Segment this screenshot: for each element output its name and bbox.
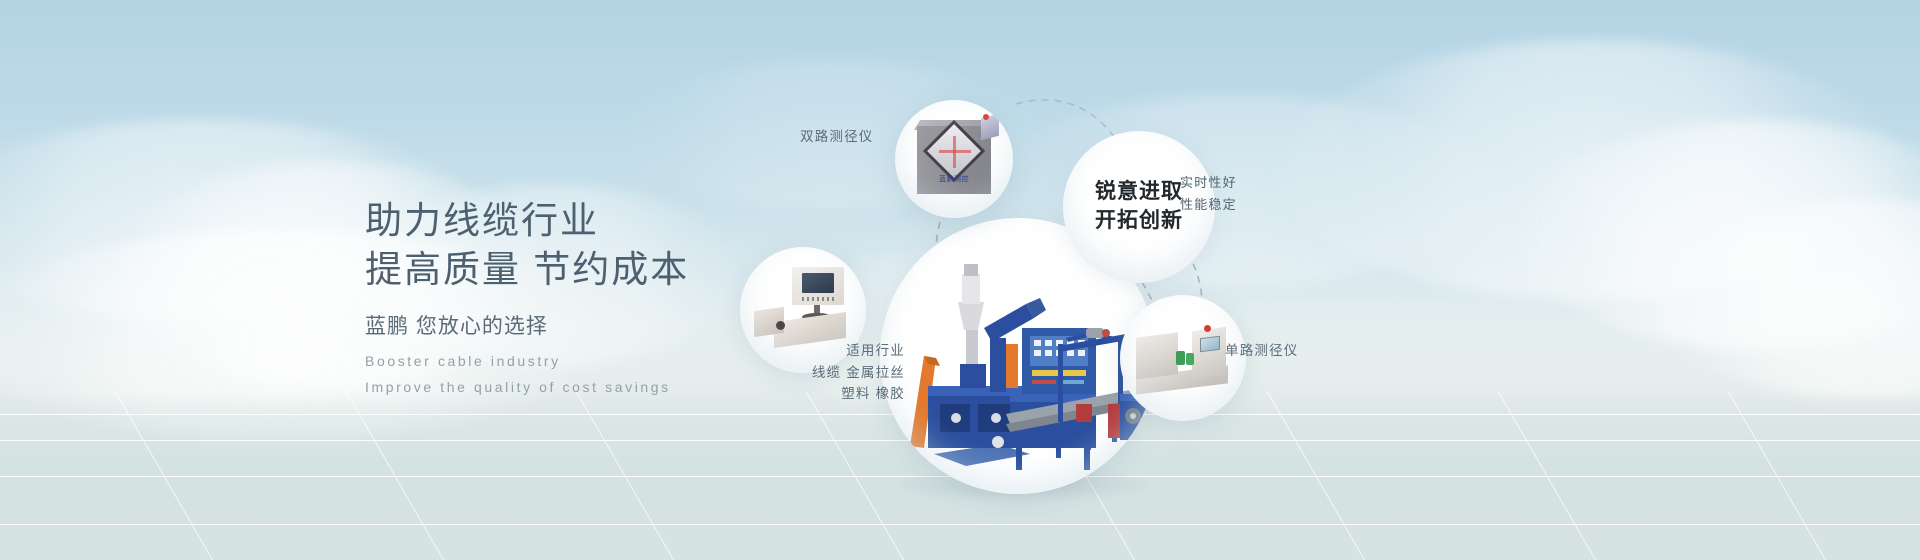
headline-line-1: 助力线缆行业	[365, 196, 785, 245]
english-tagline-2: Improve the quality of cost savings	[365, 379, 785, 395]
label-dual-gauge: 双路测径仪	[800, 126, 874, 148]
industries-title: 适用行业	[725, 340, 905, 362]
industries-line-2: 塑料 橡胶	[725, 383, 905, 405]
headline-line-2: 提高质量 节约成本	[365, 245, 785, 294]
banner-copy-block: 助力线缆行业 提高质量 节约成本 蓝鹏 您放心的选择 Booster cable…	[365, 196, 785, 395]
product-composition: 蓝鹏测控	[880, 0, 1920, 560]
label-single-gauge: 单路测径仪	[1225, 340, 1299, 362]
console-screen	[802, 273, 834, 293]
performance-line-2: 性能稳定	[1180, 194, 1237, 216]
dual-gauge-illustration: 蓝鹏测控	[895, 100, 1013, 218]
english-tagline-1: Booster cable industry	[365, 353, 785, 369]
optical-emitter	[1176, 351, 1185, 365]
product-brand-mark: 蓝鹏测控	[895, 174, 1013, 184]
console-lens	[776, 321, 785, 330]
gauge-display-screen	[1200, 336, 1220, 352]
sub-headline: 蓝鹏 您放心的选择	[365, 310, 785, 340]
performance-line-1: 实时性好	[1180, 172, 1237, 194]
optical-receiver	[1186, 353, 1194, 365]
hero-banner: 助力线缆行业 提高质量 节约成本 蓝鹏 您放心的选择 Booster cable…	[0, 0, 1920, 560]
gauge-right-arm	[1192, 327, 1226, 379]
gauge-power-led	[1204, 325, 1211, 332]
label-performance: 实时性好 性能稳定	[1180, 172, 1237, 217]
console-buttons	[802, 297, 834, 301]
dual-gauge-bubble[interactable]: 蓝鹏测控	[895, 100, 1013, 218]
gauge-left-arm	[1136, 332, 1178, 379]
laser-beam-vertical	[953, 136, 956, 168]
industries-line-1: 线缆 金属拉丝	[725, 362, 905, 384]
label-industries: 适用行业 线缆 金属拉丝 塑料 橡胶	[725, 340, 905, 405]
indicator-led	[983, 114, 989, 120]
